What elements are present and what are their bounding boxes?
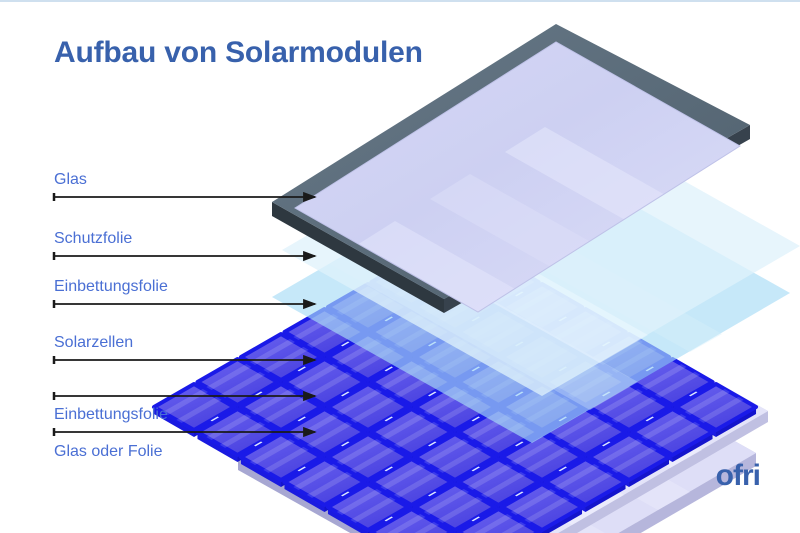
layer-label-solarzellen: Solarzellen — [54, 335, 133, 351]
layer-label-schutzfolie: Schutzfolie — [54, 231, 132, 247]
infographic-canvas: Aufbau von Solarmodulen — [0, 0, 800, 533]
layer-label-einbettungsfolie-oben: Einbettungsfolie — [54, 279, 168, 295]
layer-label-glas: Glas — [54, 172, 87, 188]
arrow-schutzfolie — [54, 252, 315, 260]
layer-label-einbettungsfolie-unten: Einbettungsfolie — [54, 407, 168, 423]
arrow-einbettungsfolie-oben — [54, 300, 315, 308]
ofri-logo: ofri — [716, 461, 760, 491]
layer-label-glas-oder-folie: Glas oder Folie — [54, 444, 163, 460]
